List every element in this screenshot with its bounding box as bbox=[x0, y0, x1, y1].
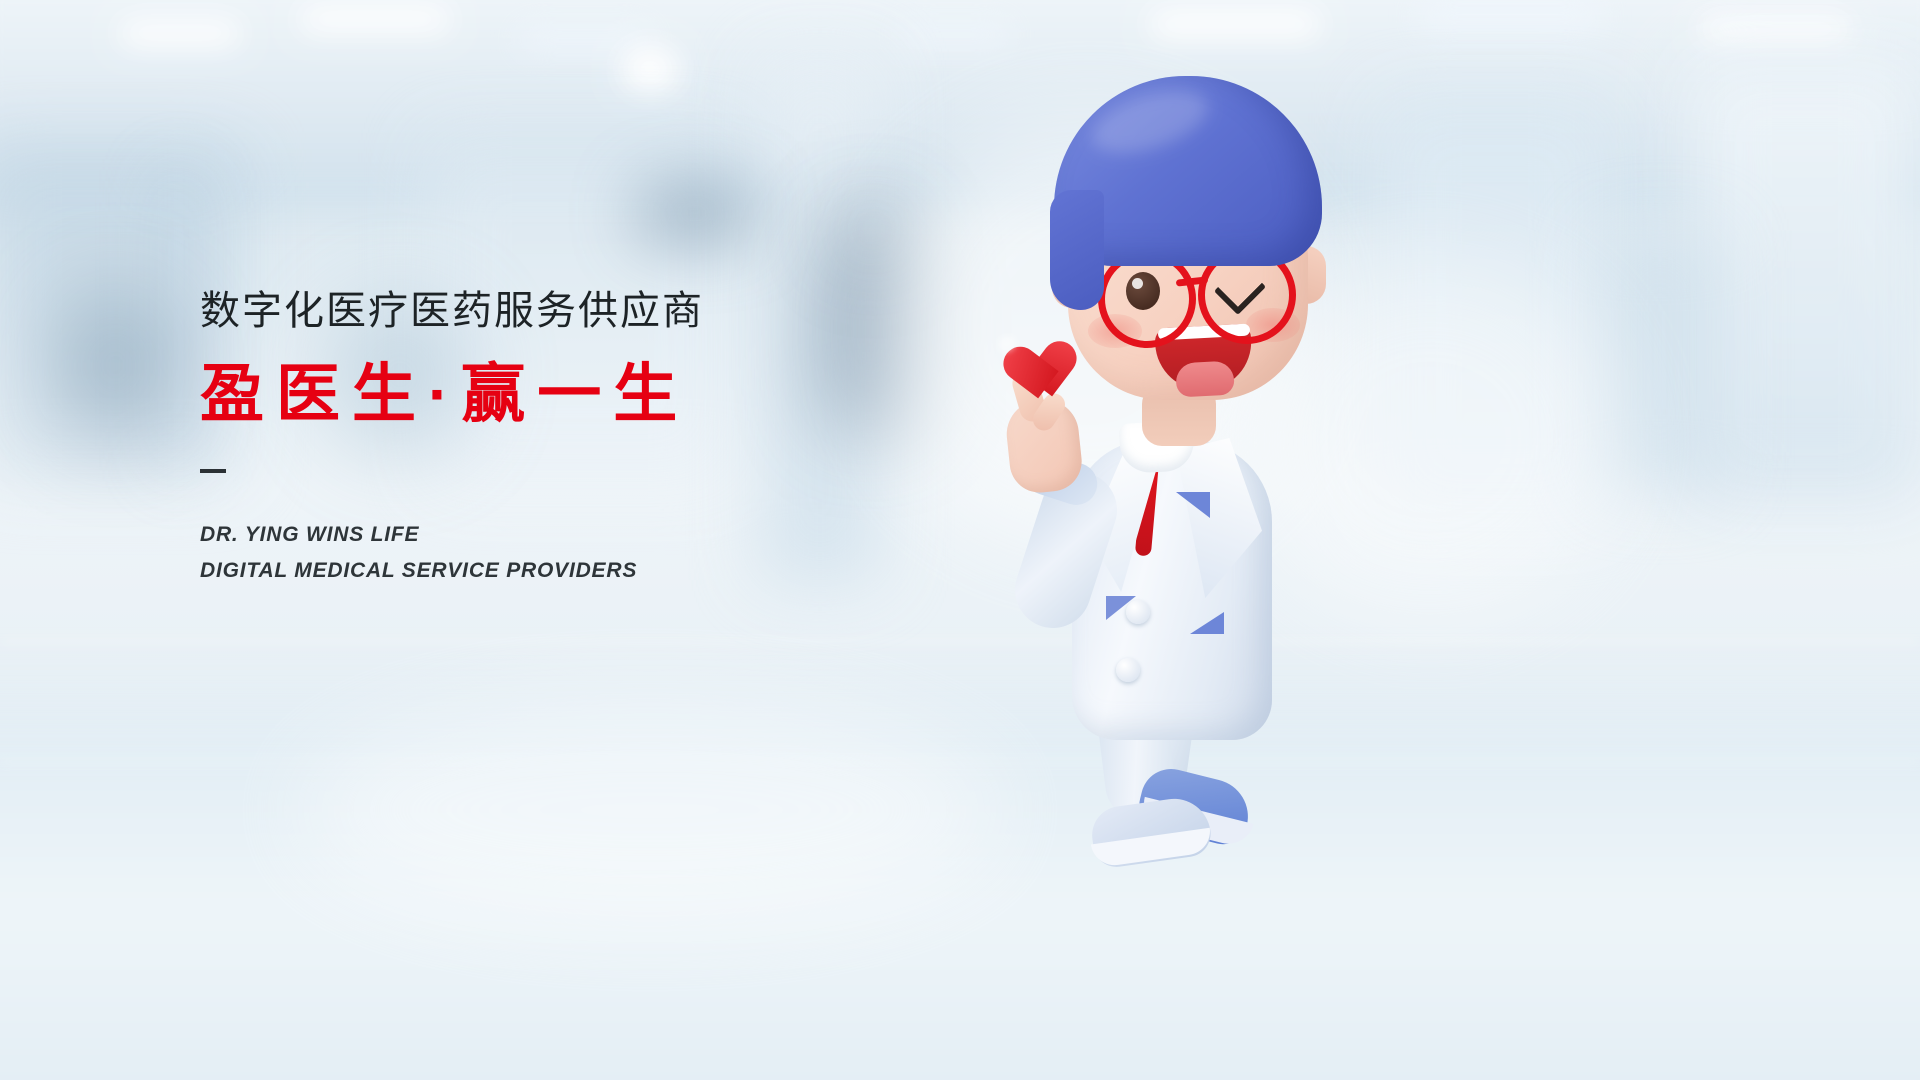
coat-accent-triangle-3 bbox=[1190, 612, 1224, 634]
bg-person-silhouette-2 bbox=[60, 290, 170, 440]
page-title: 数字化医疗医药服务供应商 bbox=[200, 286, 1020, 336]
heart-icon bbox=[986, 320, 1060, 391]
hero-banner: 数字化医疗医药服务供应商 盈医生·赢一生 DR. YING WINS LIFE … bbox=[0, 0, 1920, 1080]
ceiling-light-5 bbox=[1150, 10, 1320, 38]
floor-highlight bbox=[300, 700, 1000, 920]
hero-copy: 数字化医疗医药服务供应商 盈医生·赢一生 DR. YING WINS LIFE … bbox=[200, 286, 1020, 589]
doctor-mascot-illustration bbox=[980, 40, 1360, 850]
subtitle-line-1: DR. YING WINS LIFE bbox=[200, 517, 1020, 553]
bg-window-frame bbox=[170, 170, 186, 470]
hero-subtitles: DR. YING WINS LIFE DIGITAL MEDICAL SERVI… bbox=[200, 517, 1020, 589]
coat-button-1 bbox=[1126, 600, 1150, 624]
ceiling-light-7 bbox=[1700, 16, 1850, 42]
bg-door-right bbox=[1690, 60, 1920, 500]
tongue bbox=[1175, 361, 1235, 398]
coat-button-2 bbox=[1116, 658, 1140, 682]
floor-reflection bbox=[0, 650, 1920, 1080]
ceiling-light-2 bbox=[300, 6, 450, 32]
divider-rule bbox=[200, 469, 226, 473]
ceiling-light-4 bbox=[620, 44, 680, 94]
bg-person-head-1 bbox=[852, 205, 896, 253]
floor-line-1 bbox=[0, 640, 1920, 643]
bg-counter bbox=[640, 186, 750, 240]
subtitle-line-2: DIGITAL MEDICAL SERVICE PROVIDERS bbox=[200, 553, 1020, 589]
ceiling-light-1 bbox=[120, 20, 240, 46]
hair-sideburn bbox=[1050, 190, 1104, 310]
ceiling-light-6 bbox=[1420, 0, 1600, 34]
coat-accent-triangle-1 bbox=[1176, 492, 1210, 518]
hero-slogan: 盈医生·赢一生 bbox=[200, 356, 1020, 433]
